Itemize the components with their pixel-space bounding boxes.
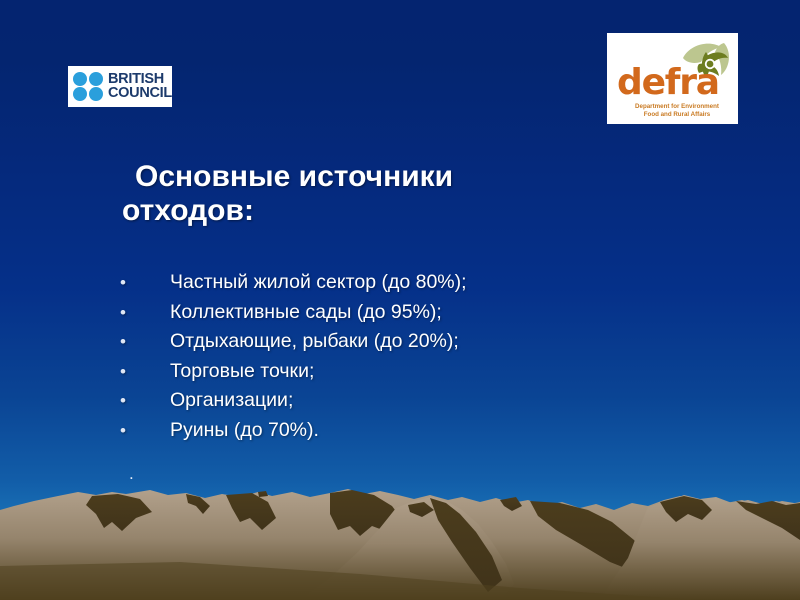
trailing-period: . [129,464,134,484]
presentation-slide: BRITISH COUNCIL defra Department for Env… [0,0,800,600]
list-item: Руины (до 70%). [118,416,678,446]
landscape-illustration [0,470,800,600]
defra-tagline-line-2: Food and Rural Affairs [623,111,731,119]
slide-title-line-2: отходов: [122,194,592,228]
slide-title: Основные источники отходов: [122,160,592,228]
british-council-line-2: COUNCIL [108,87,172,101]
defra-tagline: Department for Environment Food and Rura… [623,103,731,120]
list-item: Частный жилой сектор (до 80%); [118,268,678,298]
four-dots-grid-icon [73,72,103,101]
defra-tagline-line-1: Department for Environment [623,103,731,111]
list-item: Организации; [118,386,678,416]
list-item: Коллективные сады (до 95%); [118,298,678,328]
list-item: Отдыхающие, рыбаки (до 20%); [118,327,678,357]
bullet-list: Частный жилой сектор (до 80%); Коллектив… [118,268,678,445]
slide-title-line-1: Основные источники [122,160,592,194]
list-item: Торговые точки; [118,357,678,387]
british-council-wordmark: BRITISH COUNCIL [108,73,172,101]
defra-logo: defra Department for Environment Food an… [607,33,738,124]
british-council-logo: BRITISH COUNCIL [68,66,172,107]
mountain-range-icon [0,470,800,600]
defra-wordmark: defra [617,65,719,101]
